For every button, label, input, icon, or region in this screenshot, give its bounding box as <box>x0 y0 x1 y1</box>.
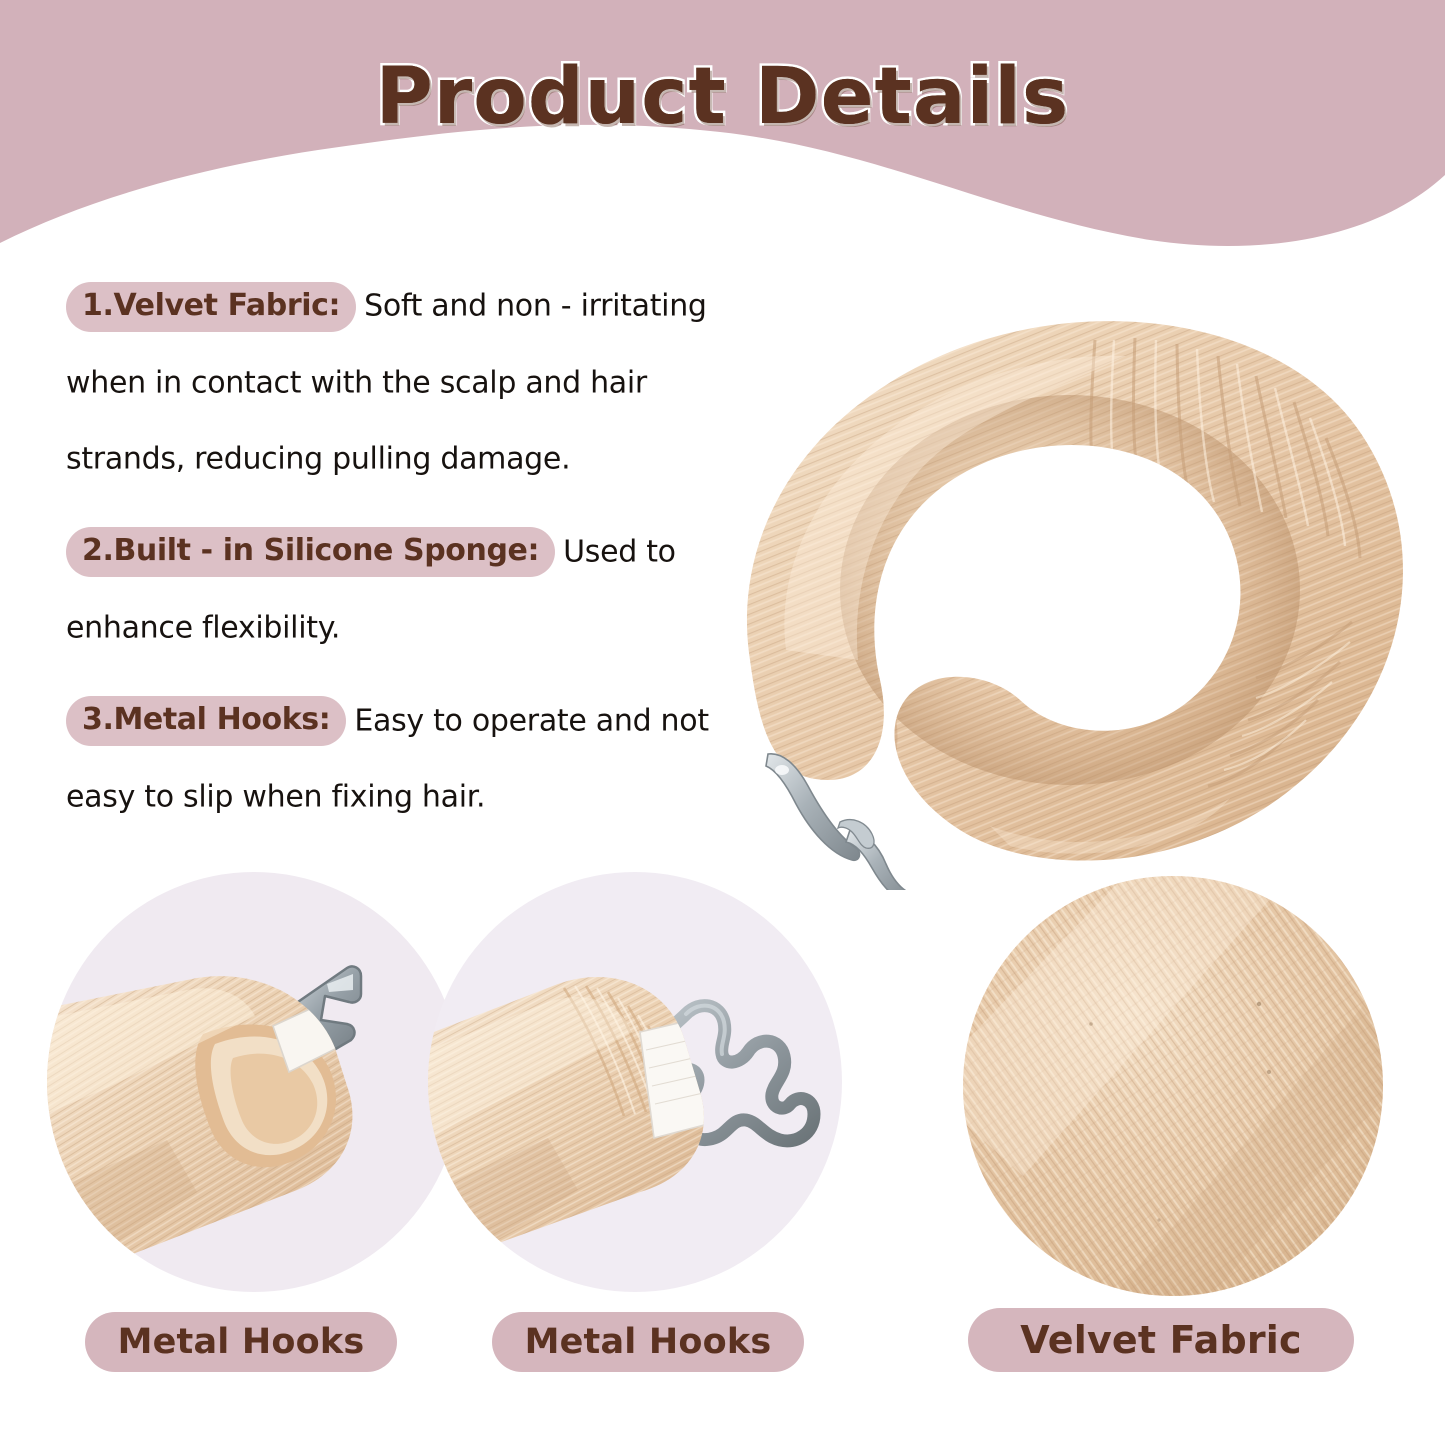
detail-photo-metal-hook-flat <box>47 872 461 1292</box>
main-product-photo <box>690 230 1445 890</box>
caption-metal-hooks-2: Metal Hooks <box>492 1312 804 1372</box>
page-title: Product Details <box>0 52 1445 142</box>
detail-photo-metal-hook-wavy <box>428 872 842 1292</box>
feature-label-velvet-fabric: 1.Velvet Fabric: <box>66 282 356 332</box>
feature-label-silicone-sponge: 2.Built - in Silicone Sponge: <box>66 527 555 577</box>
feature-list: 1.Velvet Fabric:Soft and non - irritatin… <box>66 268 756 852</box>
caption-velvet-fabric: Velvet Fabric <box>968 1308 1354 1372</box>
product-details-infographic: Product Details Product Details 1.Velvet… <box>0 0 1445 1445</box>
caption-metal-hooks-1: Metal Hooks <box>85 1312 397 1372</box>
feature-item-velvet-fabric: 1.Velvet Fabric:Soft and non - irritatin… <box>66 268 756 498</box>
feature-label-metal-hooks: 3.Metal Hooks: <box>66 696 346 746</box>
detail-photo-velvet-fabric <box>963 876 1383 1296</box>
feature-item-metal-hooks: 3.Metal Hooks:Easy to operate and not ea… <box>66 683 756 836</box>
feature-item-silicone-sponge: 2.Built - in Silicone Sponge:Used to enh… <box>66 514 756 667</box>
